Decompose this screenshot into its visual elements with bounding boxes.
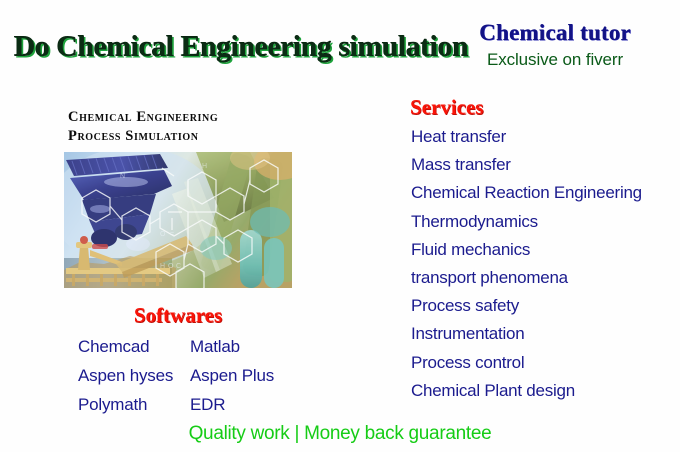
services-list: Heat transfer Mass transfer Chemical Rea… — [411, 123, 677, 405]
card-heading-line-1: Chemical Engineering — [68, 108, 308, 127]
card-heading: Chemical Engineering Process Simulation — [68, 108, 308, 146]
software-item-aspen-plus: Aspen Plus — [190, 365, 308, 387]
software-item-polymath: Polymath — [78, 394, 190, 416]
software-item-chemcad: Chemcad — [78, 336, 190, 358]
brand-block: Chemical tutor Exclusive on fiverr — [430, 20, 680, 70]
service-item-heat-transfer: Heat transfer — [411, 123, 677, 151]
softwares-heading: Softwares — [64, 303, 292, 327]
card-heading-line-2: Process Simulation — [68, 127, 308, 146]
page-title: Do Chemical Engineering simulation — [14, 30, 440, 64]
service-item-thermodynamics: Thermodynamics — [411, 208, 677, 236]
service-item-chemical-plant-design: Chemical Plant design — [411, 377, 677, 405]
software-item-matlab: Matlab — [190, 336, 308, 358]
service-item-process-control: Process control — [411, 349, 677, 377]
gig-thumbnail-canvas: Do Chemical Engineering simulation Chemi… — [0, 0, 680, 452]
service-item-transport-phenomena: transport phenomena — [411, 264, 677, 292]
software-item-aspen-hyses: Aspen hyses — [78, 365, 190, 387]
service-item-mass-transfer: Mass transfer — [411, 151, 677, 179]
service-item-chemical-reaction-engineering: Chemical Reaction Engineering — [411, 179, 677, 207]
tagline: Quality work | Money back guarantee — [0, 422, 680, 446]
service-item-instrumentation: Instrumentation — [411, 320, 677, 348]
softwares-grid: Chemcad Matlab Aspen hyses Aspen Plus Po… — [78, 336, 308, 416]
brand-subtitle: Exclusive on fiverr — [430, 50, 680, 70]
services-heading: Services — [410, 95, 483, 119]
collage-image: O = H O C N H — [64, 152, 292, 288]
brand-name: Chemical tutor — [430, 20, 680, 46]
service-item-process-safety: Process safety — [411, 292, 677, 320]
service-item-fluid-mechanics: Fluid mechanics — [411, 236, 677, 264]
software-item-edr: EDR — [190, 394, 308, 416]
